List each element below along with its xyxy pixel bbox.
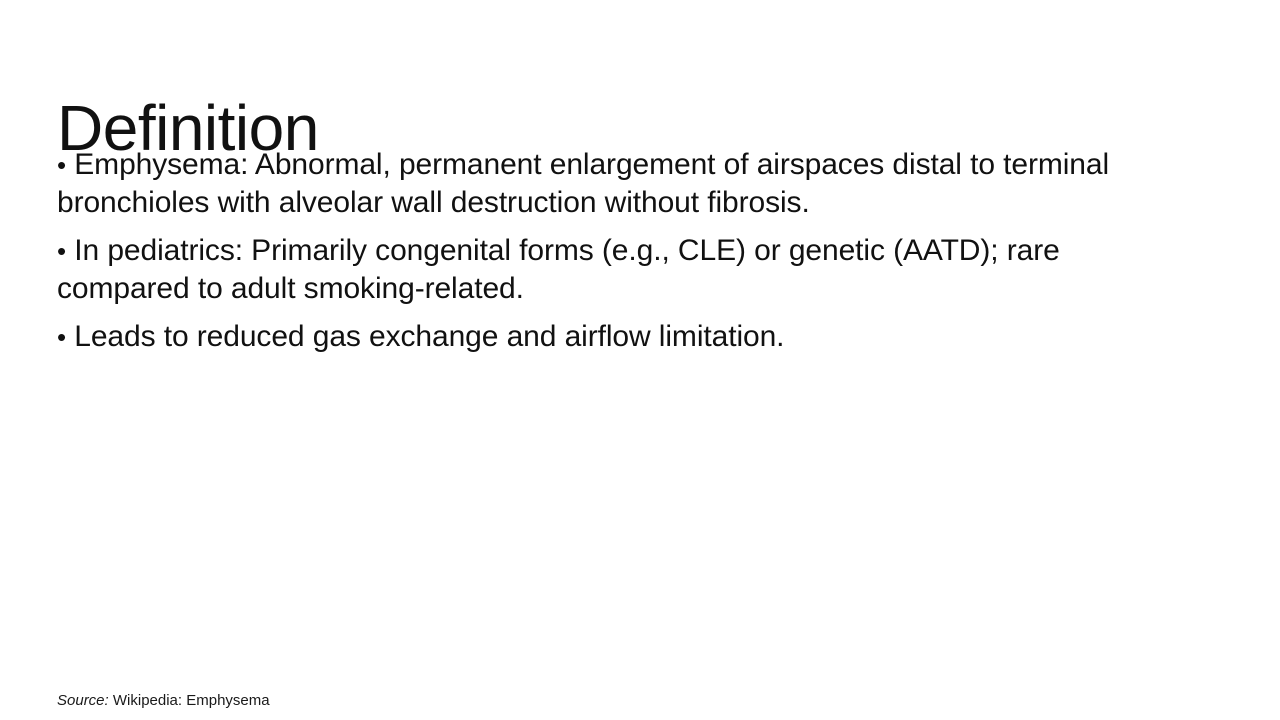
list-item-text: Leads to reduced gas exchange and airflo… (74, 320, 784, 353)
list-item: • Emphysema: Abnormal, permanent enlarge… (57, 146, 1192, 222)
empty-content-area (57, 380, 1223, 670)
list-item-text: In pediatrics: Primarily congenital form… (57, 234, 1060, 305)
slide: Definition • Emphysema: Abnormal, perman… (0, 0, 1280, 720)
bullet-icon: • (57, 150, 66, 180)
bullet-list: • Emphysema: Abnormal, permanent enlarge… (57, 146, 1192, 356)
bullet-icon: • (57, 236, 66, 266)
list-item: • Leads to reduced gas exchange and airf… (57, 318, 1192, 356)
source-label: Source: (57, 692, 109, 709)
list-item: • In pediatrics: Primarily congenital fo… (57, 232, 1192, 308)
bullet-icon: • (57, 322, 66, 352)
source-value: Wikipedia: Emphysema (113, 692, 270, 709)
list-item-text: Emphysema: Abnormal, permanent enlargeme… (57, 148, 1109, 219)
source-citation: Source: Wikipedia: Emphysema (57, 690, 270, 712)
